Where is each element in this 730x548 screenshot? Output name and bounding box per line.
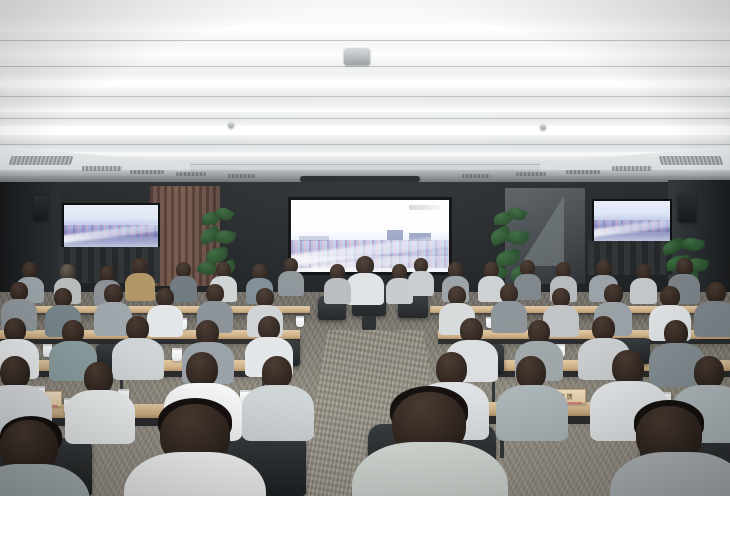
wall-speaker-icon <box>34 196 48 220</box>
ceiling-sensor-icon <box>540 124 546 130</box>
conference-room-photo: 姓名牌 姓名牌 <box>0 0 730 496</box>
bottom-white-margin <box>0 496 730 548</box>
ceiling-light-strip <box>0 126 730 135</box>
ceiling-seam <box>0 40 730 41</box>
ceiling-speaker-icon <box>344 48 370 65</box>
ceiling-light-strip <box>0 80 730 87</box>
skyline-block <box>387 230 403 240</box>
ceiling-seam <box>0 118 730 119</box>
ceiling-light-strip <box>0 26 730 31</box>
screenshot-root: 姓名牌 姓名牌 <box>0 0 730 548</box>
wall-speaker-icon <box>678 194 696 222</box>
paper-cup <box>296 316 304 327</box>
chair-base <box>362 316 376 330</box>
ceiling-seam <box>0 144 730 145</box>
left-led-screen[interactable] <box>62 203 160 251</box>
ceiling-seam <box>0 66 730 67</box>
left-screen-image <box>64 205 158 249</box>
ceiling-light-strip <box>0 108 730 112</box>
right-screen-image <box>594 201 670 243</box>
ceiling-vent <box>9 156 74 165</box>
paper-cup <box>172 348 182 361</box>
ceiling-vent <box>659 156 724 165</box>
screen-watermark <box>409 205 441 210</box>
ceiling-light-strip <box>0 152 730 156</box>
ceiling-sensor-icon <box>228 122 234 128</box>
ceiling-seam <box>0 96 730 97</box>
